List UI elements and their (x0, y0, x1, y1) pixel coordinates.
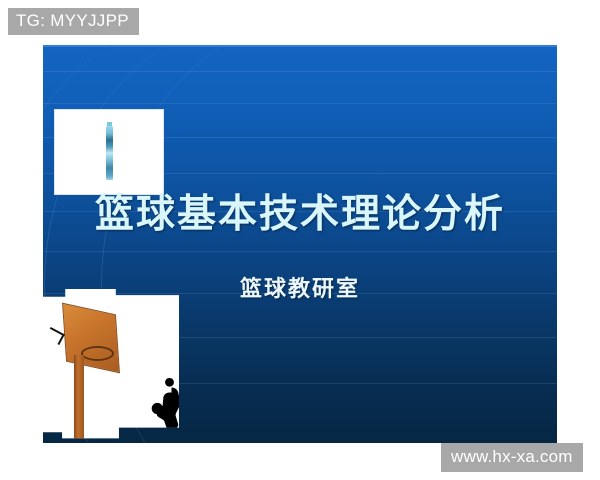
background-latitude-line (43, 251, 557, 252)
basketball-player-silhouette-icon (151, 377, 183, 433)
hoop-arm-icon (45, 327, 65, 345)
hoop-pole (74, 355, 84, 439)
backboard-icon (62, 303, 120, 374)
basketball-rim-icon (81, 346, 114, 361)
slide-top-rim (43, 45, 557, 47)
background-latitude-line (43, 103, 557, 104)
bottle-body (106, 126, 113, 180)
background-latitude-line (43, 71, 557, 72)
basketball-hoop-photo (43, 289, 179, 443)
screenshot-canvas: 篮球基本技术理论分析 篮球教研室 TG: MYYJJPP www.hx-xa.c… (0, 0, 600, 480)
slide-title: 篮球基本技术理论分析 (43, 193, 557, 236)
watermark-bottom-right: www.hx-xa.com (441, 443, 583, 472)
bottle-photo (55, 110, 163, 194)
watermark-top-left: TG: MYYJJPP (8, 8, 139, 35)
presentation-slide: 篮球基本技术理论分析 篮球教研室 (43, 45, 557, 443)
slide-subtitle: 篮球教研室 (43, 271, 557, 303)
